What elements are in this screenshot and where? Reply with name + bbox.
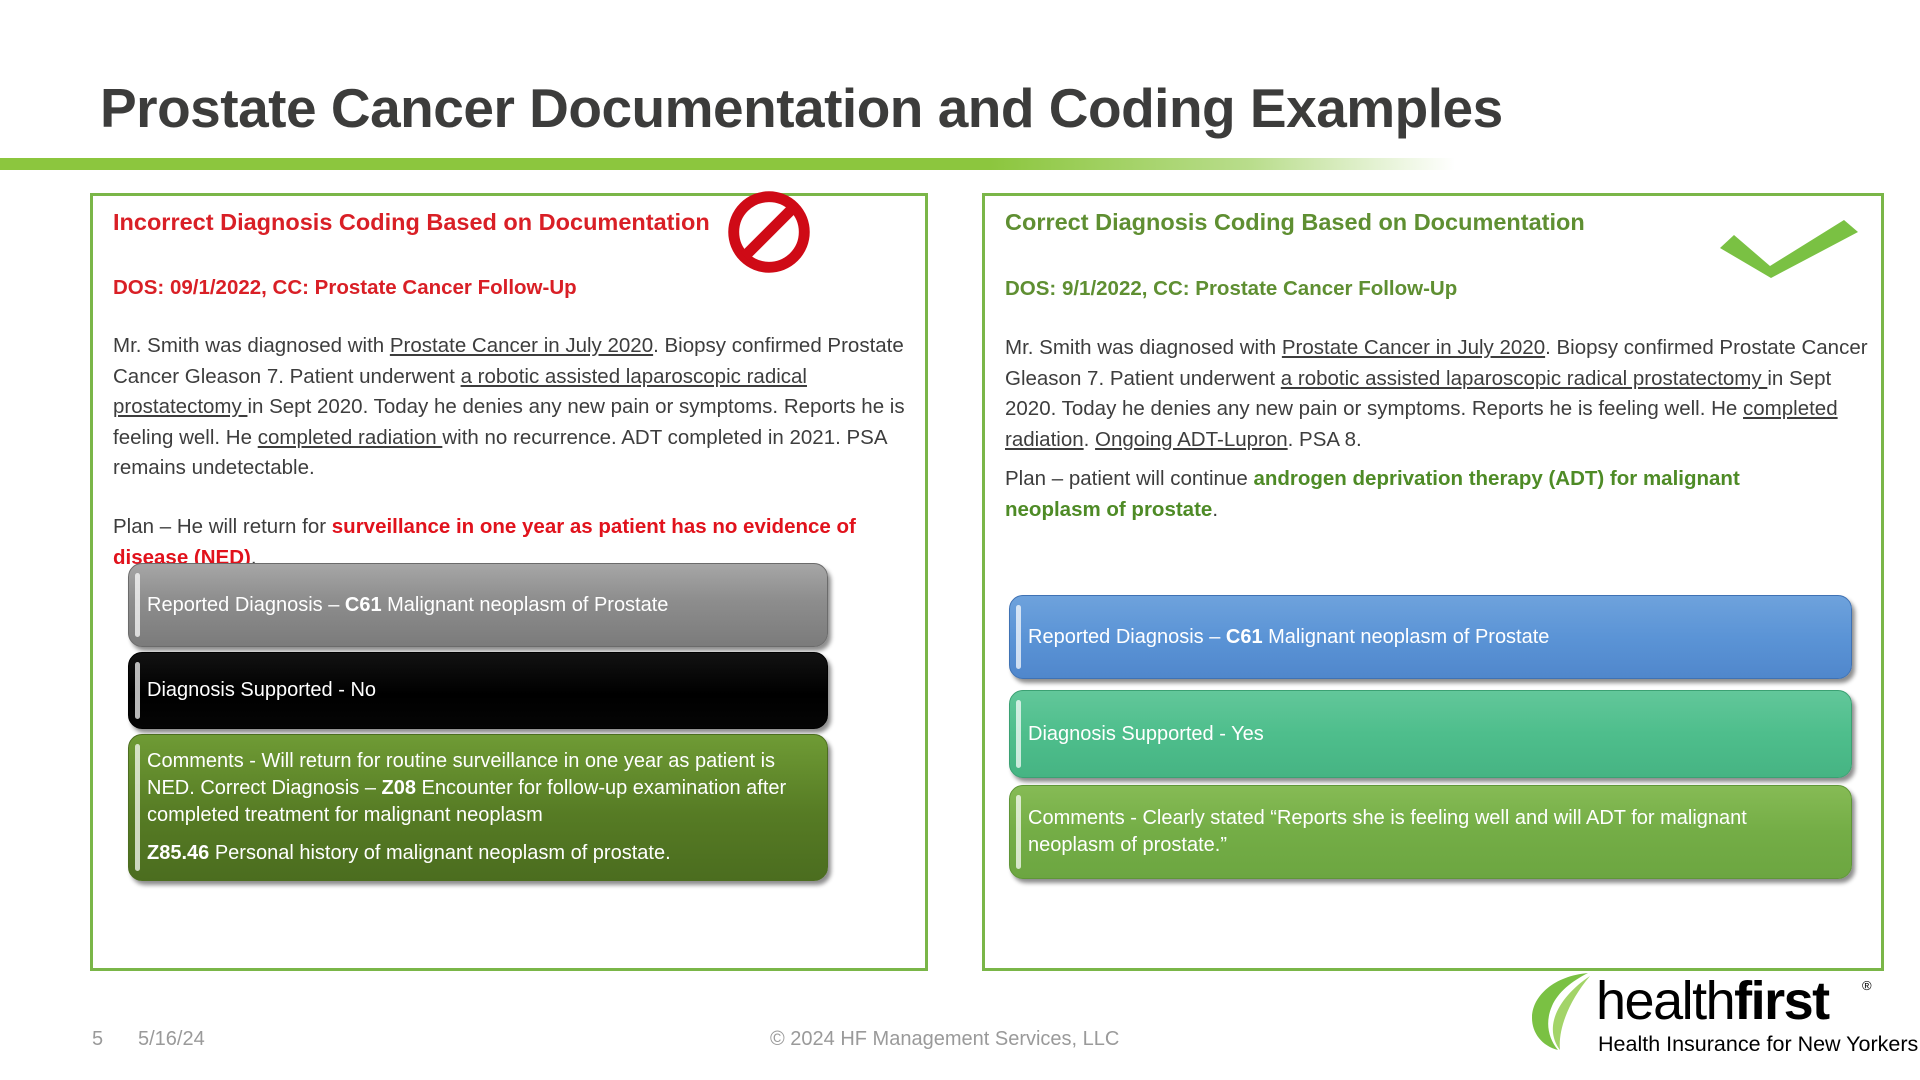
text-segment: Comments - Clearly stated “Reports she i… — [1028, 807, 1747, 856]
text-segment: . PSA 8. — [1288, 428, 1362, 451]
logo-word-bold: first — [1734, 971, 1829, 1031]
text-segment: Reported Diagnosis – — [147, 594, 345, 616]
box-line: Z85.46 Personal history of malignant neo… — [147, 840, 813, 867]
correct-comments-box: Comments - Clearly stated “Reports she i… — [1009, 785, 1852, 879]
text-segment: Malignant neoplasm of Prostate — [382, 594, 669, 616]
footer-date: 5/16/24 — [138, 1028, 205, 1051]
box-line: Reported Diagnosis – C61 Malignant neopl… — [1028, 624, 1837, 651]
correct-dos-line: DOS: 9/1/2022, CC: Prostate Cancer Follo… — [1005, 277, 1457, 301]
text-segment: C61 — [1226, 626, 1263, 648]
leaf-icon — [1528, 970, 1600, 1052]
correct-note-text: Mr. Smith was diagnosed with Prostate Ca… — [1005, 333, 1875, 455]
text-segment: Z08 — [382, 777, 416, 799]
page-title: Prostate Cancer Documentation and Coding… — [100, 76, 1503, 140]
logo-word-light: health — [1596, 971, 1734, 1031]
box-line: Diagnosis Supported - No — [147, 677, 813, 704]
logo-tagline: Health Insurance for New Yorkers — [1598, 1032, 1918, 1057]
incorrect-reported-diagnosis-box: Reported Diagnosis – C61 Malignant neopl… — [128, 563, 828, 647]
healthfirst-logo: healthfirst ® Health Insurance for New Y… — [1528, 968, 1888, 1064]
text-segment: Reported Diagnosis – — [1028, 626, 1226, 648]
footer-page-number: 5 — [92, 1028, 103, 1051]
text-segment: Prostate Cancer in July 2020 — [1282, 336, 1545, 359]
text-segment: Diagnosis Supported - Yes — [1028, 723, 1264, 745]
text-segment: C61 — [345, 594, 382, 616]
incorrect-panel-heading: Incorrect Diagnosis Coding Based on Docu… — [113, 209, 710, 236]
registered-mark: ® — [1862, 978, 1872, 993]
text-segment: Ongoing ADT-Lupron — [1095, 428, 1288, 451]
incorrect-diagnosis-supported-box: Diagnosis Supported - No — [128, 652, 828, 729]
text-segment: Z85.46 — [147, 842, 209, 864]
title-divider — [0, 158, 1455, 170]
text-segment: . — [1084, 428, 1095, 451]
box-line: Comments - Clearly stated “Reports she i… — [1028, 805, 1837, 859]
correct-plan-text: Plan – patient will continue androgen de… — [1005, 464, 1805, 525]
text-segment: Plan – patient will continue — [1005, 467, 1253, 490]
correct-diagnosis-supported-box: Diagnosis Supported - Yes — [1009, 690, 1852, 778]
incorrect-note-text: Mr. Smith was diagnosed with Prostate Ca… — [113, 331, 908, 484]
text-segment: Mr. Smith was diagnosed with — [1005, 336, 1282, 359]
box-line: Reported Diagnosis – C61 Malignant neopl… — [147, 592, 813, 619]
text-segment: completed radiation — [258, 426, 443, 449]
text-segment: Mr. Smith was diagnosed with — [113, 334, 390, 357]
text-segment: Personal history of malignant neoplasm o… — [209, 842, 670, 864]
footer-copyright: © 2024 HF Management Services, LLC — [770, 1028, 1119, 1051]
box-line: Diagnosis Supported - Yes — [1028, 721, 1837, 748]
prohibition-icon — [727, 190, 811, 274]
text-segment: Prostate Cancer in July 2020 — [390, 334, 653, 357]
correct-panel-heading: Correct Diagnosis Coding Based on Docume… — [1005, 209, 1585, 236]
logo-wordmark: healthfirst — [1596, 972, 1829, 1030]
check-icon — [1718, 218, 1860, 280]
text-segment: Diagnosis Supported - No — [147, 679, 376, 701]
text-segment: a robotic assisted laparoscopic radical … — [1281, 367, 1768, 390]
text-segment: Malignant neoplasm of Prostate — [1263, 626, 1550, 648]
text-segment: . — [1212, 498, 1218, 521]
text-segment: Plan – He will return for — [113, 515, 332, 538]
box-line: Comments - Will return for routine surve… — [147, 748, 813, 829]
correct-reported-diagnosis-box: Reported Diagnosis – C61 Malignant neopl… — [1009, 595, 1852, 679]
incorrect-dos-line: DOS: 09/1/2022, CC: Prostate Cancer Foll… — [113, 276, 577, 300]
incorrect-comments-box: Comments - Will return for routine surve… — [128, 734, 828, 881]
